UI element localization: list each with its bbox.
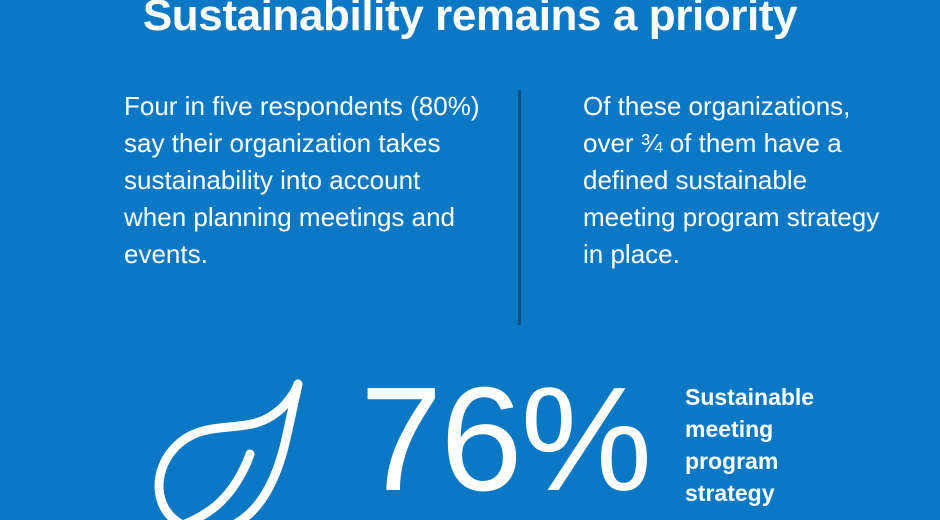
column-left-text: Four in five respondents (80%) say their… <box>124 88 484 273</box>
stat-label-line-4: strategy <box>685 477 885 509</box>
stat-label-line-1: Sustainable <box>685 381 885 413</box>
column-right-text: Of these organizations, over ¾ of them h… <box>583 88 883 273</box>
stat-value: 76% <box>360 366 650 514</box>
stat-label-line-3: program <box>685 445 885 477</box>
stat-label-line-2: meeting <box>685 413 885 445</box>
text-columns: Four in five respondents (80%) say their… <box>0 88 940 333</box>
stat-label: Sustainable meeting program strategy <box>685 381 885 509</box>
stat-highlight-row: 76% Sustainable meeting program strategy <box>0 348 940 520</box>
infographic-slide: Sustainability remains a priority Four i… <box>0 0 940 520</box>
page-title: Sustainability remains a priority <box>0 0 940 42</box>
column-divider <box>518 90 521 325</box>
leaf-icon <box>138 362 313 520</box>
